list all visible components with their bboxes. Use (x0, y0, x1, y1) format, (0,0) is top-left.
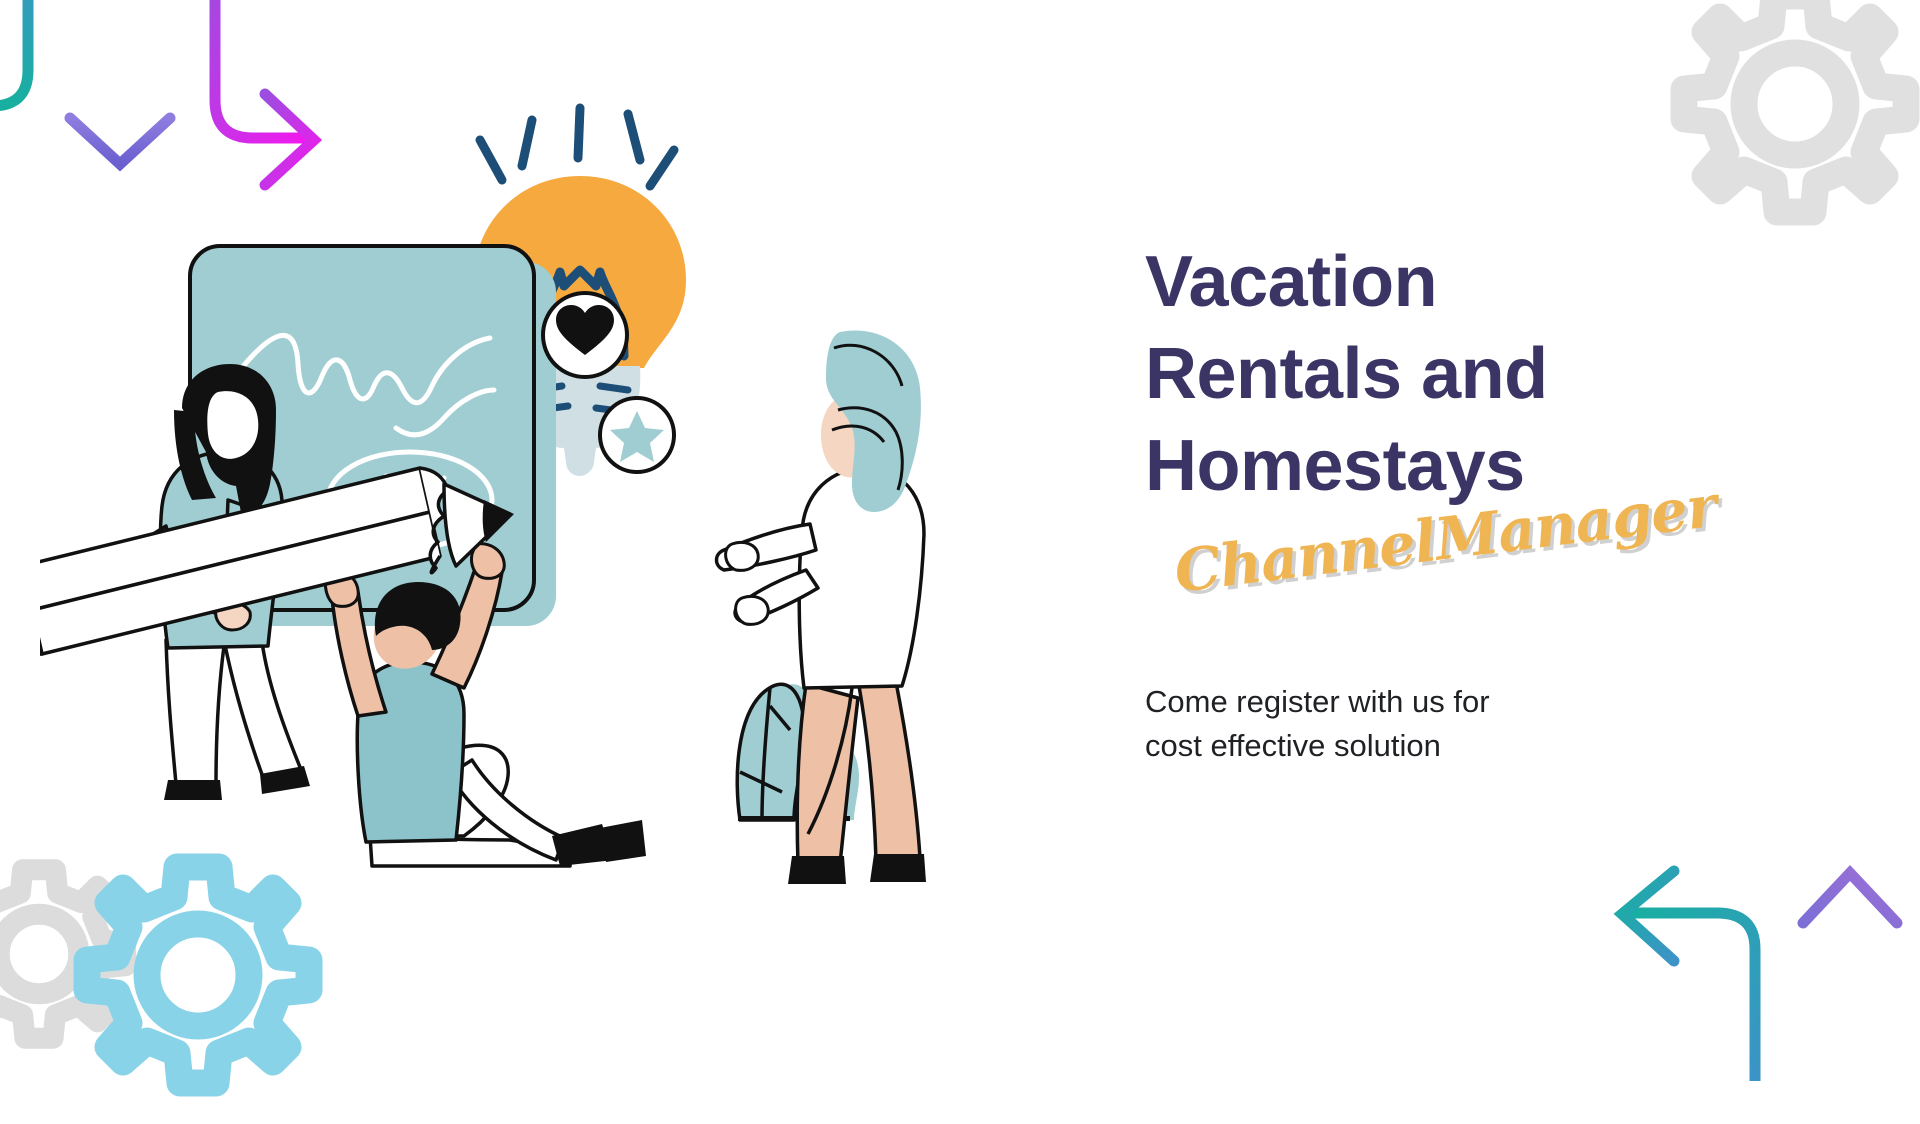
gear-icon (1640, 0, 1920, 254)
decorative-arrows-bottom-right (1590, 851, 1920, 1086)
arrow-curve-left-teal-icon (1622, 871, 1755, 1081)
heart-icon (543, 293, 627, 377)
gear-top-right (1640, 0, 1920, 259)
arrow-curve-teal-icon (0, 0, 28, 106)
brand-script-wrapper: ChannelManager (1145, 512, 1785, 606)
page-title: Vacation Rentals and Homestays (1145, 236, 1785, 512)
team-whiteboard-illustration (40, 80, 1120, 960)
copy-block: Vacation Rentals and Homestays ChannelMa… (1145, 236, 1785, 769)
star-icon (600, 398, 674, 472)
tagline: Come register with us for cost effective… (1145, 680, 1785, 768)
banner-canvas: Vacation Rentals and Homestays ChannelMa… (0, 0, 1920, 1080)
arrow-up-purple-icon (1803, 873, 1897, 1081)
